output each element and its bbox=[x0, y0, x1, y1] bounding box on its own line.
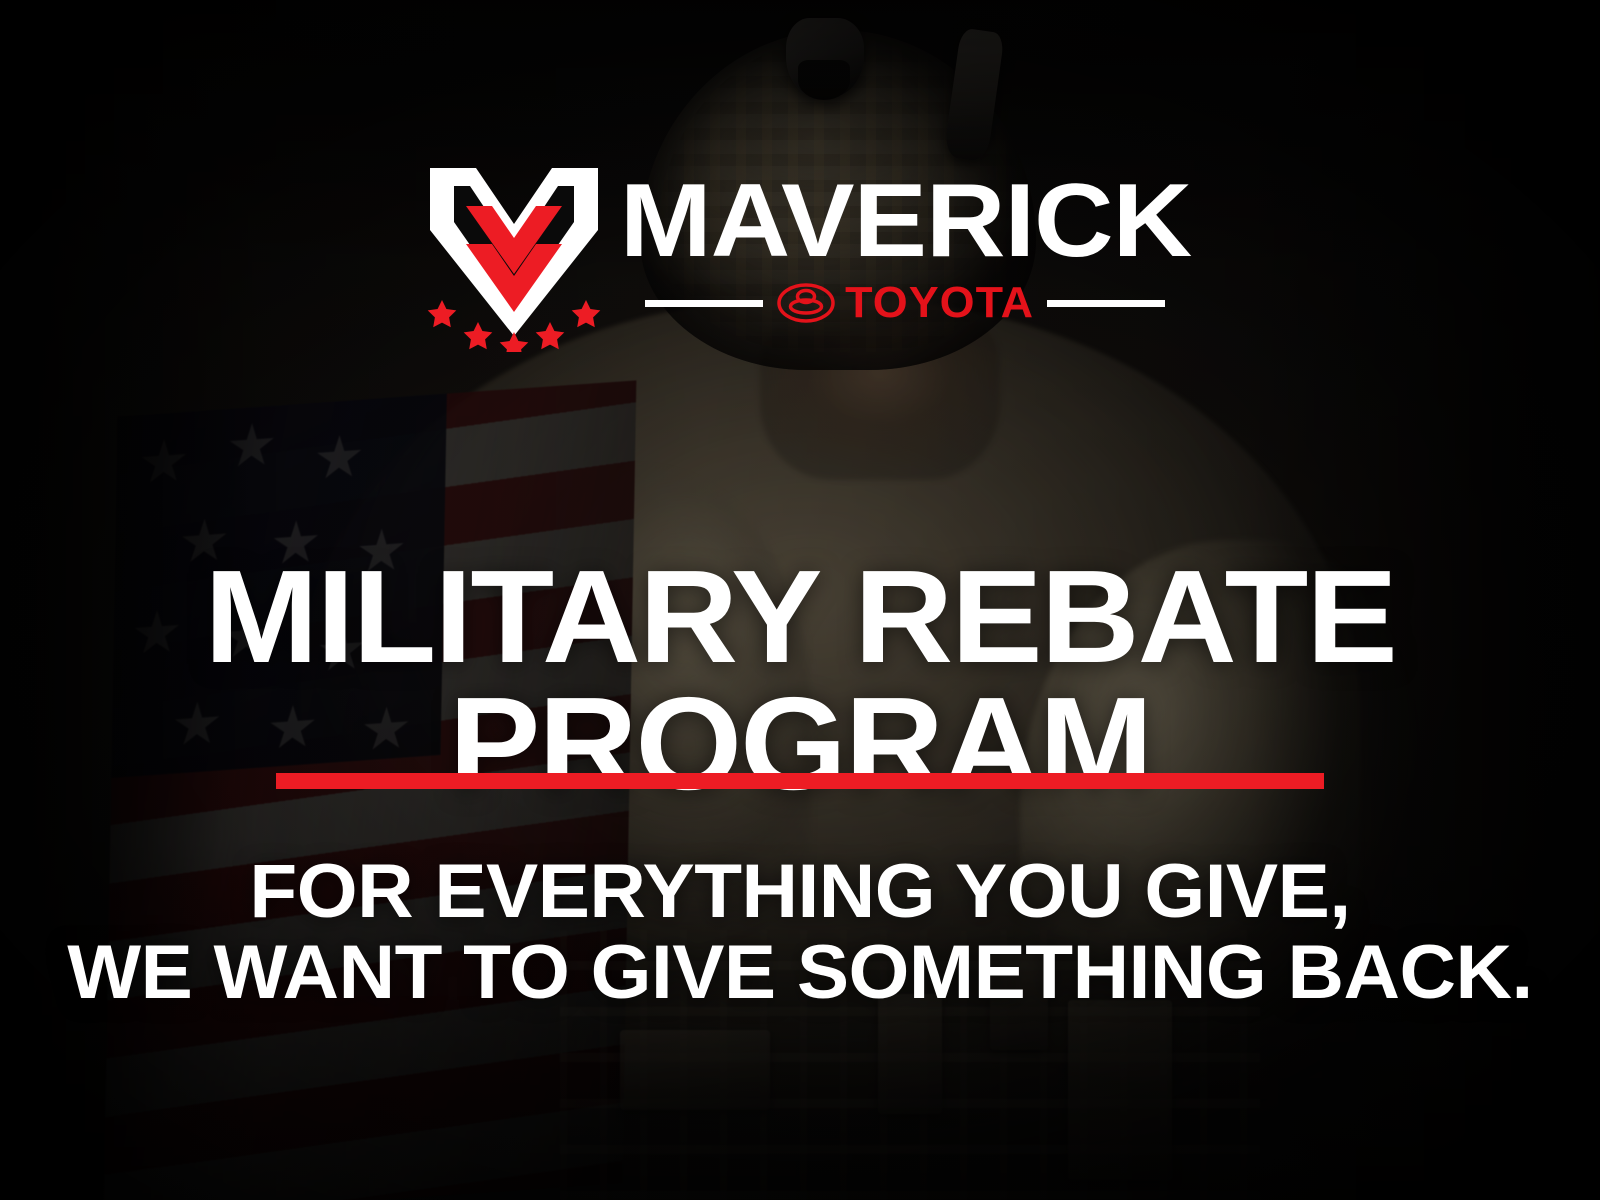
page-subtitle: FOR EVERYTHING YOU GIVE, WE WANT TO GIVE… bbox=[0, 852, 1600, 1013]
brand-logo-lockup: MAVERICK TOYOTA bbox=[0, 160, 1600, 352]
rule-left bbox=[645, 300, 763, 307]
toyota-oval-logo-icon bbox=[777, 283, 835, 323]
toyota-mark: TOYOTA bbox=[777, 281, 1032, 325]
subheadline-line-2: WE WANT TO GIVE SOMETHING BACK. bbox=[0, 933, 1600, 1014]
rule-right bbox=[1047, 300, 1165, 307]
headline-line-1: MILITARY REBATE bbox=[0, 554, 1600, 681]
toyota-wordmark: TOYOTA bbox=[846, 281, 1035, 325]
page-title: MILITARY REBATE PROGRAM bbox=[0, 554, 1600, 807]
brand-name: MAVERICK bbox=[619, 178, 1190, 265]
subheadline-line-1: FOR EVERYTHING YOU GIVE, bbox=[0, 852, 1600, 933]
divider-wrapper bbox=[0, 773, 1600, 789]
military-rebate-poster: MAVERICK TOYOTA MILITARY bbox=[0, 0, 1600, 1200]
maverick-chevron-emblem-icon bbox=[426, 160, 602, 352]
toyota-sub-brand-row: TOYOTA bbox=[645, 281, 1165, 325]
red-divider-rule bbox=[276, 773, 1324, 789]
brand-wordmark-block: MAVERICK TOYOTA bbox=[636, 160, 1175, 325]
poster-content: MAVERICK TOYOTA MILITARY bbox=[0, 0, 1600, 1200]
